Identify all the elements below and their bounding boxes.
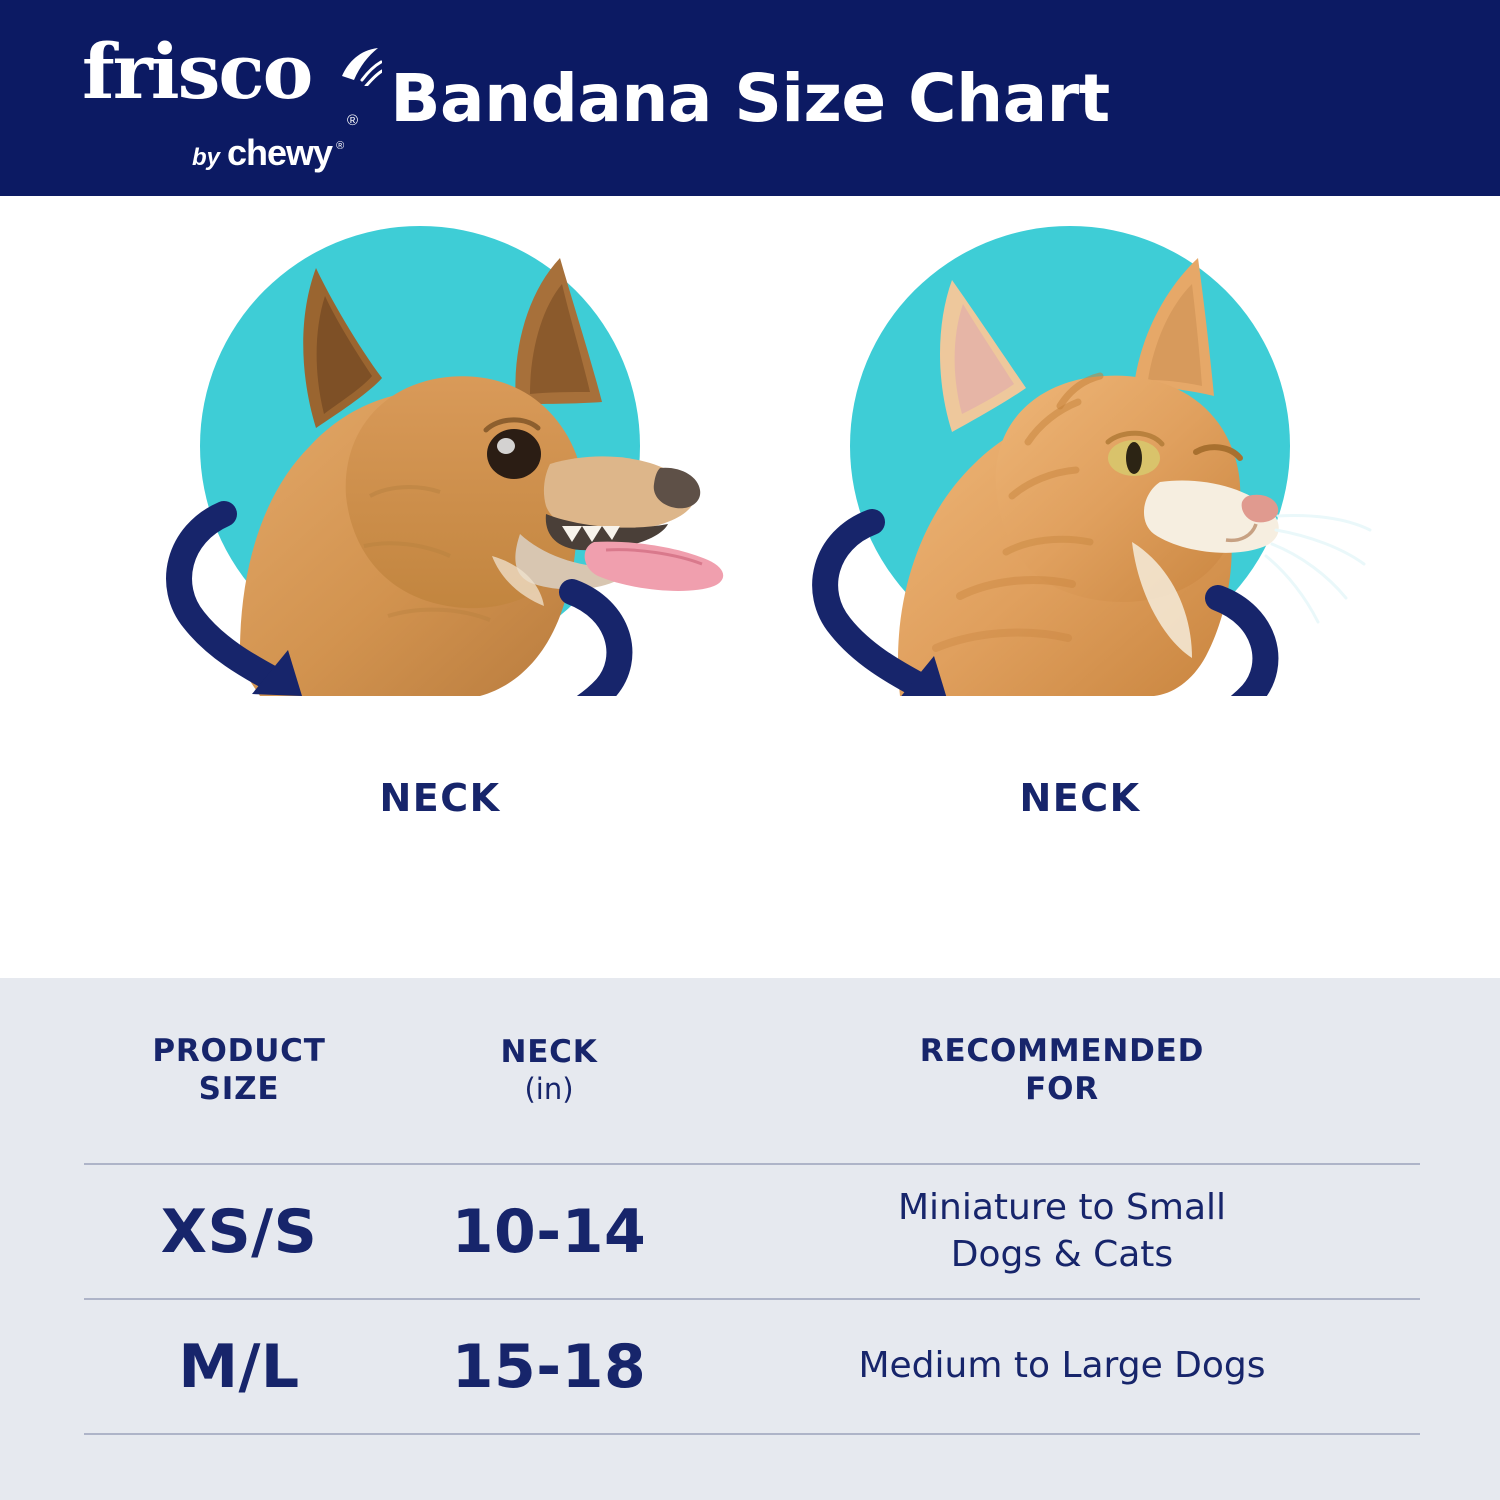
frisco-brand-logo: frisco ® by chewy ® <box>70 28 370 168</box>
size-chart-table: PRODUCT SIZE NECK (in) RECOMMENDED FOR X… <box>0 978 1500 1500</box>
dog-head-icon <box>120 196 760 696</box>
brand-wordmark: frisco <box>82 34 311 110</box>
column-header-neck-unit: (in) <box>394 1072 704 1107</box>
cell-recommended: Medium to Large Dogs <box>704 1343 1420 1389</box>
illustration-area: NECK <box>0 196 1500 978</box>
cat-neck-label: NECK <box>760 776 1400 820</box>
cell-recommended-line1: Medium to Large Dogs <box>858 1345 1265 1386</box>
brand-registered-mark: ® <box>347 112 358 129</box>
column-header-neck-line1: NECK <box>500 1034 597 1070</box>
brand-parent-registered-mark: ® <box>336 140 344 152</box>
brand-parent-label: chewy <box>227 132 332 174</box>
cell-size: XS/S <box>84 1197 394 1267</box>
column-header-recommended-line2: FOR <box>1025 1071 1099 1107</box>
brand-swish-icon <box>338 46 382 86</box>
cell-recommended: Miniature to Small Dogs & Cats <box>704 1185 1420 1277</box>
table-divider <box>84 1433 1420 1435</box>
brand-by-label: by <box>192 144 220 172</box>
page-header: frisco ® by chewy ® Bandana Size Chart <box>0 0 1500 196</box>
cat-illustration-block: NECK <box>760 196 1400 978</box>
cell-neck: 15-18 <box>394 1332 704 1402</box>
column-header-recommended-line1: RECOMMENDED <box>920 1033 1204 1069</box>
brand-sub-lockup: by chewy ® <box>192 132 347 174</box>
column-header-product-size-line1: PRODUCT <box>152 1033 325 1069</box>
dog-illustration-block: NECK <box>120 196 760 978</box>
dog-neck-label: NECK <box>120 776 760 820</box>
dog-stage <box>120 196 760 696</box>
cat-head-icon <box>760 196 1400 696</box>
column-header-recommended-for: RECOMMENDED FOR <box>704 1033 1420 1109</box>
column-header-product-size: PRODUCT SIZE <box>84 1033 394 1109</box>
table-inner: PRODUCT SIZE NECK (in) RECOMMENDED FOR X… <box>84 978 1420 1435</box>
column-header-neck: NECK (in) <box>394 1034 704 1107</box>
table-row: XS/S 10-14 Miniature to Small Dogs & Cat… <box>84 1165 1420 1298</box>
cell-size: M/L <box>84 1332 394 1402</box>
cell-recommended-line1: Miniature to Small <box>898 1187 1226 1228</box>
cell-neck: 10-14 <box>394 1197 704 1267</box>
table-row: M/L 15-18 Medium to Large Dogs <box>84 1300 1420 1433</box>
cell-recommended-line2: Dogs & Cats <box>951 1234 1173 1275</box>
table-header-row: PRODUCT SIZE NECK (in) RECOMMENDED FOR <box>84 978 1420 1163</box>
cat-stage <box>760 196 1400 696</box>
column-header-product-size-line2: SIZE <box>199 1071 280 1107</box>
